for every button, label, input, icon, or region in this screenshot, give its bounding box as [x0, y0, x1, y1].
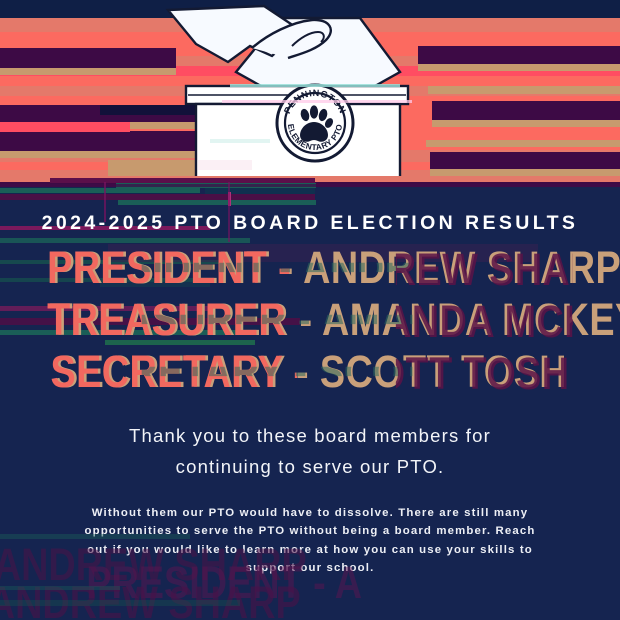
glitch-line [0, 586, 120, 590]
glitch-sliver [222, 100, 412, 103]
result-line: SECRETARY - SCOTT TOSH SECRETARY - SCOTT… [50, 346, 571, 398]
glitch-line [0, 600, 240, 606]
glitch-line [0, 534, 190, 539]
election-results-poster: PENNINGTON ELEMENTARY PTO [0, 0, 620, 620]
thank-you-message: Thank you to these board members for con… [60, 420, 560, 482]
body-paragraph: Without them our PTO would have to disso… [72, 504, 548, 578]
pto-logo: PENNINGTON ELEMENTARY PTO [277, 85, 353, 161]
page-title: 2024-2025 PTO BOARD ELECTION RESULTS [0, 212, 620, 235]
result-line-text: SECRETARY - SCOTT TOSH [53, 346, 567, 397]
thank-you-line-1: Thank you to these board members for [60, 420, 560, 451]
election-results-list: PRESIDENT - ANDREW SHARP PRESIDENT - AND… [0, 242, 620, 398]
glitch-sliver [230, 84, 400, 87]
ballot-box-illustration: PENNINGTON ELEMENTARY PTO [0, 0, 620, 182]
glitch-line [0, 184, 620, 187]
results-body: 2024-2025 PTO BOARD ELECTION RESULTS PRE… [0, 182, 620, 620]
result-line: PRESIDENT - ANDREW SHARP PRESIDENT - AND… [50, 242, 571, 294]
result-line-text: TREASURER - AMANDA MCKEY [50, 294, 620, 345]
glitch-sliver [210, 139, 270, 143]
glitch-sliver [198, 160, 252, 170]
thank-you-line-2: continuing to serve our PTO. [60, 451, 560, 482]
result-line-text: PRESIDENT - ANDREW SHARP [50, 242, 620, 293]
hero-illustration-band: PENNINGTON ELEMENTARY PTO [0, 0, 620, 182]
result-line: TREASURER - AMANDA MCKEY TREASURER - AMA… [50, 294, 571, 346]
